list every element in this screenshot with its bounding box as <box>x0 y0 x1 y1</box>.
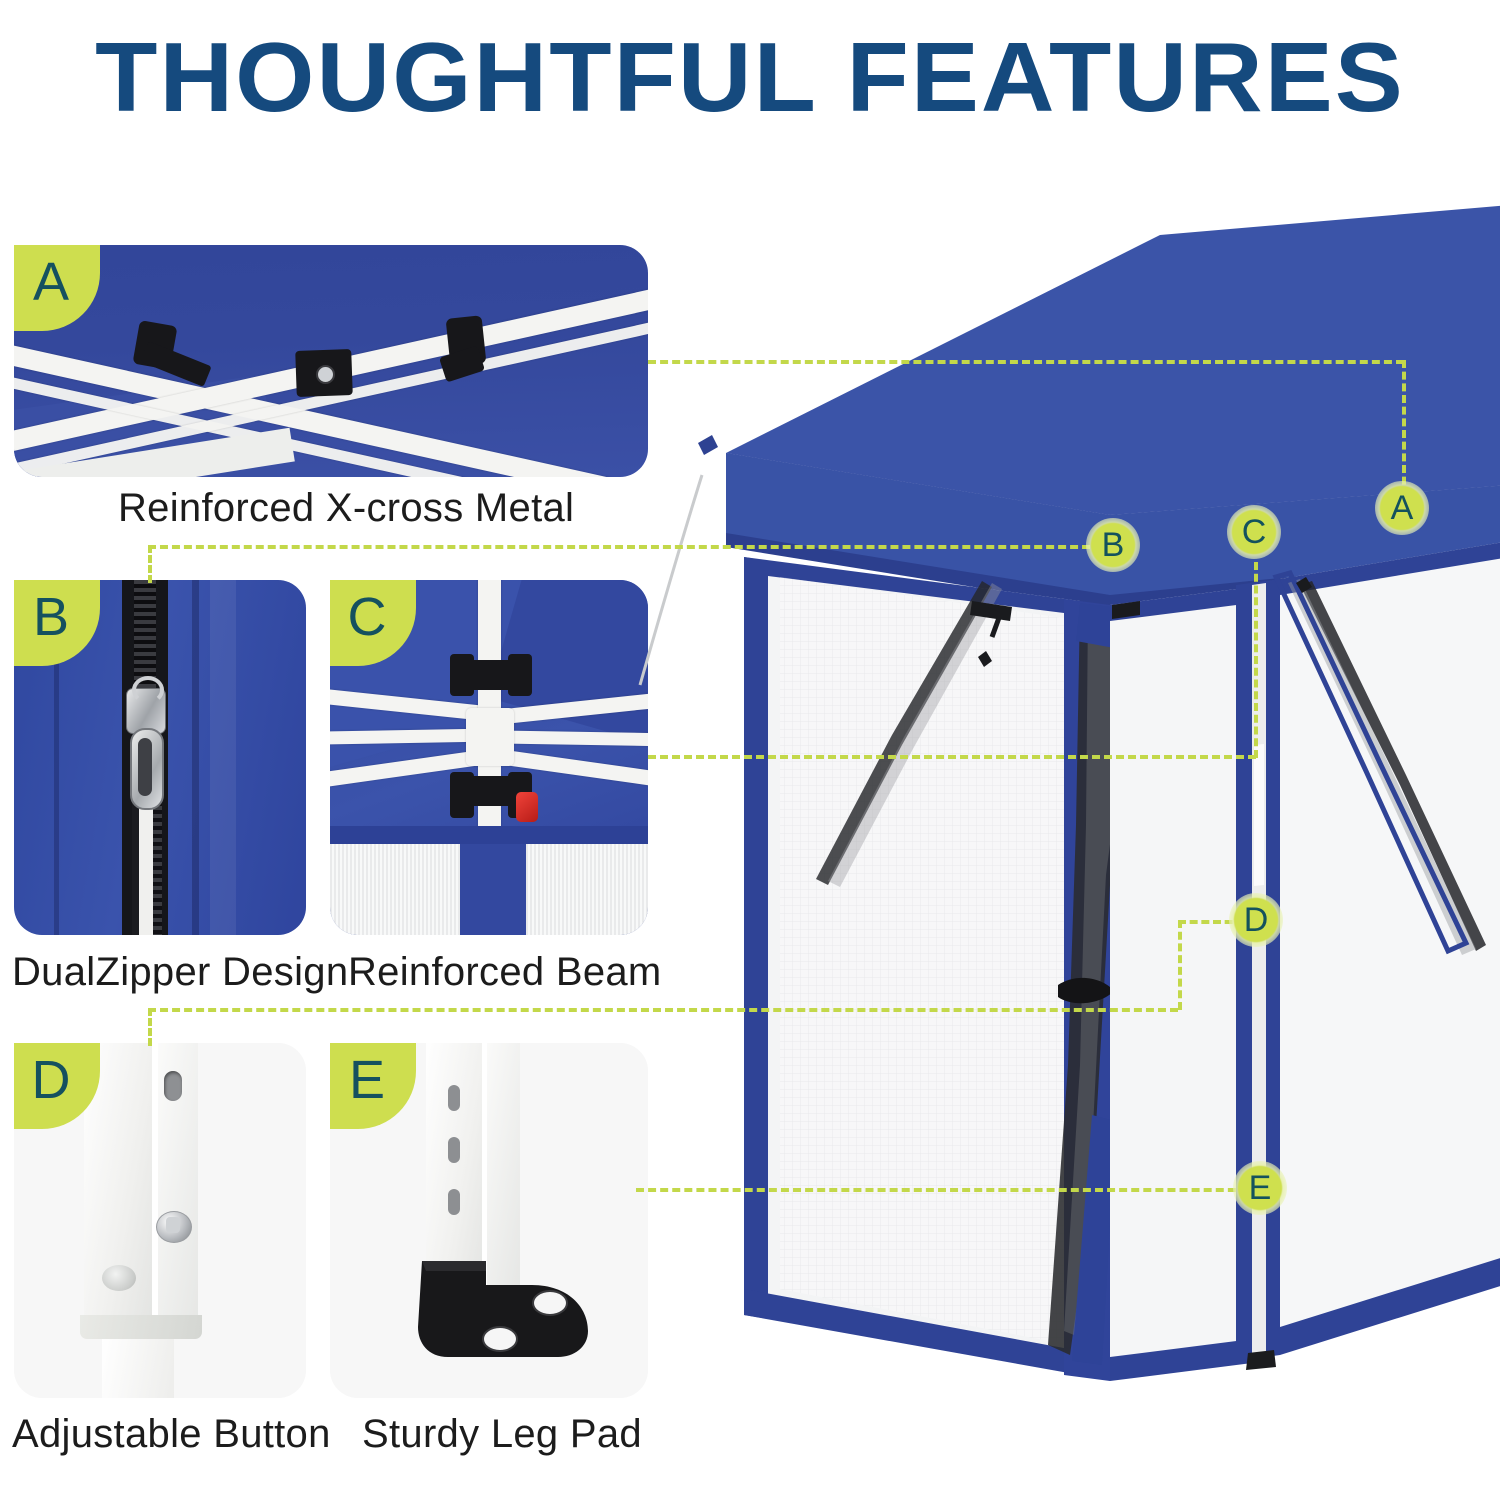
adjust-hole-2 <box>448 1137 460 1163</box>
canopy-marker-e[interactable]: E <box>1233 1161 1287 1215</box>
badge-letter-b: B <box>33 590 69 644</box>
mesh-swatch-right <box>526 844 648 935</box>
left-wall-post-trim <box>744 557 768 1319</box>
feature-panel-b[interactable]: B <box>14 580 306 935</box>
center-rivet <box>316 365 335 384</box>
infographic-root: THOUGHTFUL FEATURES A <box>0 0 1500 1500</box>
marker-letter-b: B <box>1102 528 1125 562</box>
adjust-hole-1 <box>448 1085 460 1111</box>
canopy-marker-d[interactable]: D <box>1229 893 1283 947</box>
leader-line-d-vertical-right <box>1178 920 1182 1010</box>
pin-hole <box>164 1071 182 1101</box>
marker-letter-a: A <box>1391 491 1414 525</box>
leader-line-c-horizontal <box>648 755 1256 759</box>
badge-letter-d: D <box>32 1053 71 1107</box>
canopy-marker-c[interactable]: C <box>1227 505 1281 559</box>
adjustable-button[interactable] <box>102 1265 136 1291</box>
badge-letter-e: E <box>349 1053 385 1107</box>
caption-c: Reinforced Beam <box>348 950 662 995</box>
canopy-product-photo <box>640 185 1500 1385</box>
adjust-hole-3 <box>448 1189 460 1215</box>
feature-panel-c[interactable]: C <box>330 580 648 935</box>
caption-e: Sturdy Leg Pad <box>362 1412 642 1457</box>
leader-line-a-horizontal <box>648 360 1404 364</box>
leader-line-c-vertical <box>1254 562 1258 758</box>
red-release-button[interactable] <box>516 792 538 822</box>
pole-collar <box>466 708 514 766</box>
caption-a: Reinforced X-cross Metal <box>118 486 574 531</box>
page-title: THOUGHTFUL FEATURES <box>0 28 1500 126</box>
leader-line-b-vertical <box>148 545 152 583</box>
canopy-marker-a[interactable]: A <box>1375 481 1429 535</box>
marker-letter-c: C <box>1242 515 1267 549</box>
feature-panel-d[interactable]: D <box>14 1043 306 1398</box>
tube-joint-cap <box>80 1315 202 1339</box>
leg-pad-shape <box>382 1231 612 1361</box>
leader-line-d-vertical-left <box>148 1008 152 1046</box>
mesh-swatch-left <box>330 844 460 935</box>
leader-line-d-horizontal-top <box>148 1008 1178 1012</box>
badge-letter-c: C <box>348 590 387 644</box>
caption-b: DualZipper Design <box>12 950 348 995</box>
corner-leg-foot <box>1246 1350 1276 1370</box>
leader-line-e-horizontal <box>636 1188 1260 1192</box>
canopy-marker-b[interactable]: B <box>1086 518 1140 572</box>
guy-rope <box>640 475 702 685</box>
feature-panel-e[interactable]: E <box>330 1043 648 1398</box>
marker-letter-d: D <box>1244 903 1269 937</box>
badge-letter-a: A <box>33 255 69 309</box>
feature-panel-a[interactable]: A <box>14 245 648 477</box>
inner-leg-tube <box>102 1339 174 1398</box>
rope-anchor <box>698 435 718 455</box>
leader-line-b-horizontal <box>148 545 1114 549</box>
x-cross-metal-photo <box>14 245 648 477</box>
caption-d: Adjustable Button <box>12 1412 331 1457</box>
marker-letter-e: E <box>1249 1171 1272 1205</box>
